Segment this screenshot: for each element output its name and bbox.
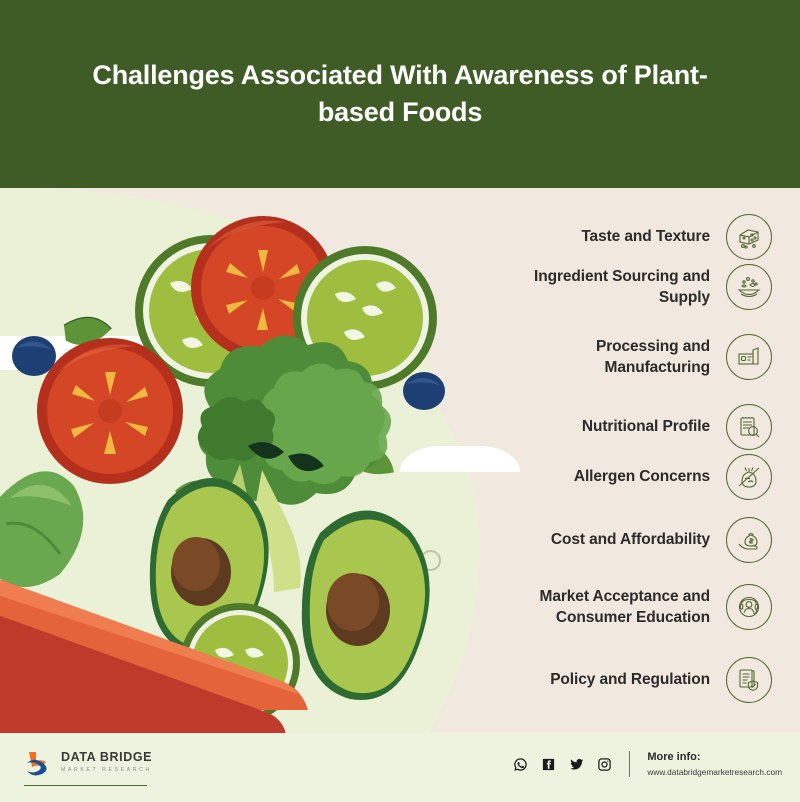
avocado-half xyxy=(302,510,430,700)
list-item[interactable]: Processing and Manufacturing xyxy=(495,334,772,380)
cheese-block-icon[interactable] xyxy=(726,214,772,260)
list-item-label: Allergen Concerns xyxy=(574,466,710,487)
list-item[interactable]: Policy and Regulation xyxy=(550,657,772,703)
list-item-label: Ingredient Sourcing and Supply xyxy=(495,266,710,309)
list-item-label: Policy and Regulation xyxy=(550,669,710,690)
list-item-label: Cost and Affordability xyxy=(551,529,710,550)
challenges-list: Taste and Texture Ingredient Sourcing a xyxy=(460,188,800,733)
blueberry xyxy=(403,372,445,410)
brand-logo[interactable]: DATA BRIDGE MARKET RESEARCH xyxy=(24,747,152,777)
list-item-label: Processing and Manufacturing xyxy=(495,336,710,379)
logo-underline xyxy=(24,785,147,786)
money-bag-hand-icon[interactable] xyxy=(726,517,772,563)
header-banner: Challenges Associated With Awareness of … xyxy=(0,0,800,188)
instagram-icon[interactable] xyxy=(597,757,612,772)
more-info-title: More info: xyxy=(647,751,782,765)
list-item-label: Market Acceptance and Consumer Education xyxy=(495,586,710,629)
infographic-poster: Challenges Associated With Awareness of … xyxy=(0,0,800,802)
list-item[interactable]: Nutritional Profile xyxy=(582,404,772,450)
twitter-icon[interactable] xyxy=(569,757,584,772)
facebook-icon[interactable] xyxy=(541,757,556,772)
list-item-label: Taste and Texture xyxy=(581,226,710,247)
tomato-slice xyxy=(37,338,183,484)
list-item-label: Nutritional Profile xyxy=(582,416,710,437)
headset-person-icon[interactable] xyxy=(726,584,772,630)
more-info-url[interactable]: www.databridgemarketresearch.com xyxy=(647,767,782,778)
main-content: Taste and Texture Ingredient Sourcing a xyxy=(0,188,800,733)
document-magnifier-icon[interactable] xyxy=(726,404,772,450)
salad-bowl-illustration xyxy=(0,188,470,733)
no-allergen-icon[interactable] xyxy=(726,454,772,500)
page-title: Challenges Associated With Awareness of … xyxy=(70,57,730,132)
lettuce-leaf xyxy=(0,471,83,587)
factory-icon[interactable] xyxy=(726,334,772,380)
document-shield-icon[interactable] xyxy=(726,657,772,703)
logo-subtitle: MARKET RESEARCH xyxy=(61,767,152,773)
list-item[interactable]: Ingredient Sourcing and Supply xyxy=(495,264,772,310)
whatsapp-icon[interactable] xyxy=(513,757,528,772)
data-bridge-b-logo xyxy=(24,747,54,777)
footer-divider xyxy=(629,751,630,777)
social-links: More info: www.databridgemarketresearch.… xyxy=(513,751,782,778)
list-item[interactable]: Allergen Concerns xyxy=(574,454,772,500)
list-item[interactable]: Cost and Affordability xyxy=(551,517,772,563)
salad-bowl-icon[interactable] xyxy=(726,264,772,310)
list-item[interactable]: Market Acceptance and Consumer Education xyxy=(495,584,772,630)
more-info-block: More info: www.databridgemarketresearch.… xyxy=(647,751,782,778)
list-item[interactable]: Taste and Texture xyxy=(581,214,772,260)
footer-bar: DATA BRIDGE MARKET RESEARCH xyxy=(0,733,800,802)
logo-name: DATA BRIDGE xyxy=(61,751,152,765)
